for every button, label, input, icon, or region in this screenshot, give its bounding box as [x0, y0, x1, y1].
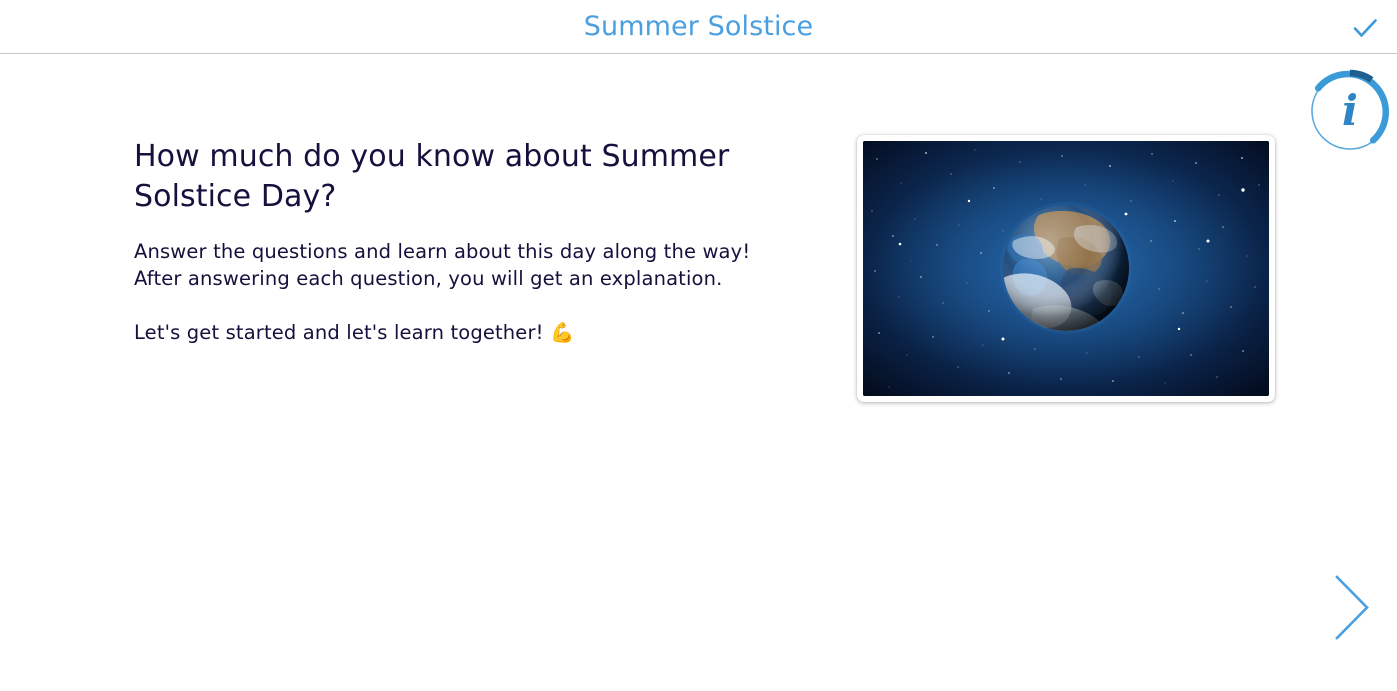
slide-content: How much do you know about Summer Solsti… — [0, 55, 1397, 691]
slide-description: Answer the questions and learn about thi… — [134, 217, 804, 346]
flexed-biceps-emoji: 💪 — [550, 321, 574, 344]
earth-in-space-image — [863, 141, 1269, 396]
description-line-3-text: Let's get started and let's learn togeth… — [134, 321, 544, 344]
media-card — [857, 135, 1275, 402]
space-illustration — [863, 141, 1269, 396]
check-icon — [1350, 13, 1380, 43]
description-line-3: Let's get started and let's learn togeth… — [134, 319, 804, 346]
description-line-2: After answering each question, you will … — [134, 265, 804, 292]
confirm-check-button[interactable] — [1345, 9, 1385, 47]
page-title: Summer Solstice — [0, 0, 1397, 54]
slide-heading: How much do you know about Summer Solsti… — [134, 137, 804, 217]
chevron-right-icon — [1320, 570, 1382, 645]
next-button[interactable] — [1320, 570, 1382, 645]
text-column: How much do you know about Summer Solsti… — [134, 137, 804, 346]
paragraph-spacer — [134, 292, 804, 319]
description-line-1: Answer the questions and learn about thi… — [134, 238, 804, 265]
app-header: Summer Solstice — [0, 0, 1397, 54]
